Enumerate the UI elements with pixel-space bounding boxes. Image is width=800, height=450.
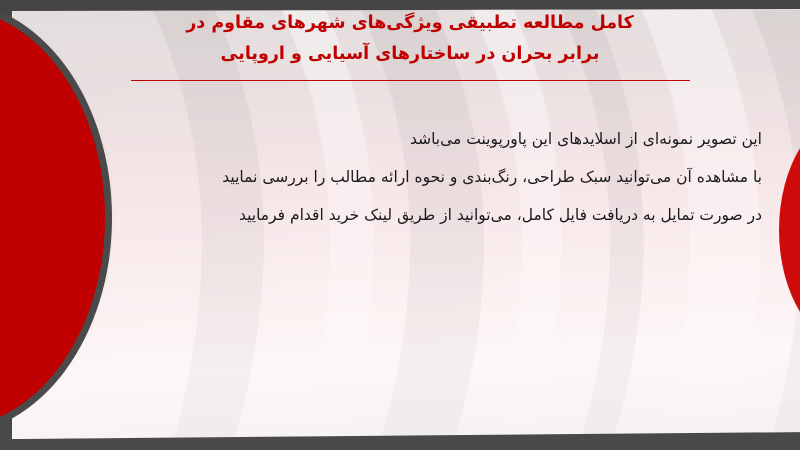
slide-title-line-1: کامل مطالعه تطبیقی ویژگی‌های شهرهای مقاو…: [60, 8, 760, 39]
slide-title: کامل مطالعه تطبیقی ویژگی‌های شهرهای مقاو…: [60, 8, 760, 70]
slide-body-line-3: در صورت تمایل به دریافت فایل کامل، می‌تو…: [102, 196, 762, 234]
presentation-slide: کامل مطالعه تطبیقی ویژگی‌های شهرهای مقاو…: [0, 0, 800, 450]
slide-title-underline: [131, 80, 690, 81]
slide-body-line-1: این تصویر نمونه‌ای از اسلایدهای این پاور…: [102, 120, 762, 158]
slide-title-line-2: برابر بحران در ساختارهای آسیایی و اروپای…: [60, 39, 760, 70]
slide-body-text: این تصویر نمونه‌ای از اسلایدهای این پاور…: [102, 120, 762, 234]
slide-body-line-2: با مشاهده آن می‌توانید سبک طراحی، رنگ‌بن…: [102, 158, 762, 196]
